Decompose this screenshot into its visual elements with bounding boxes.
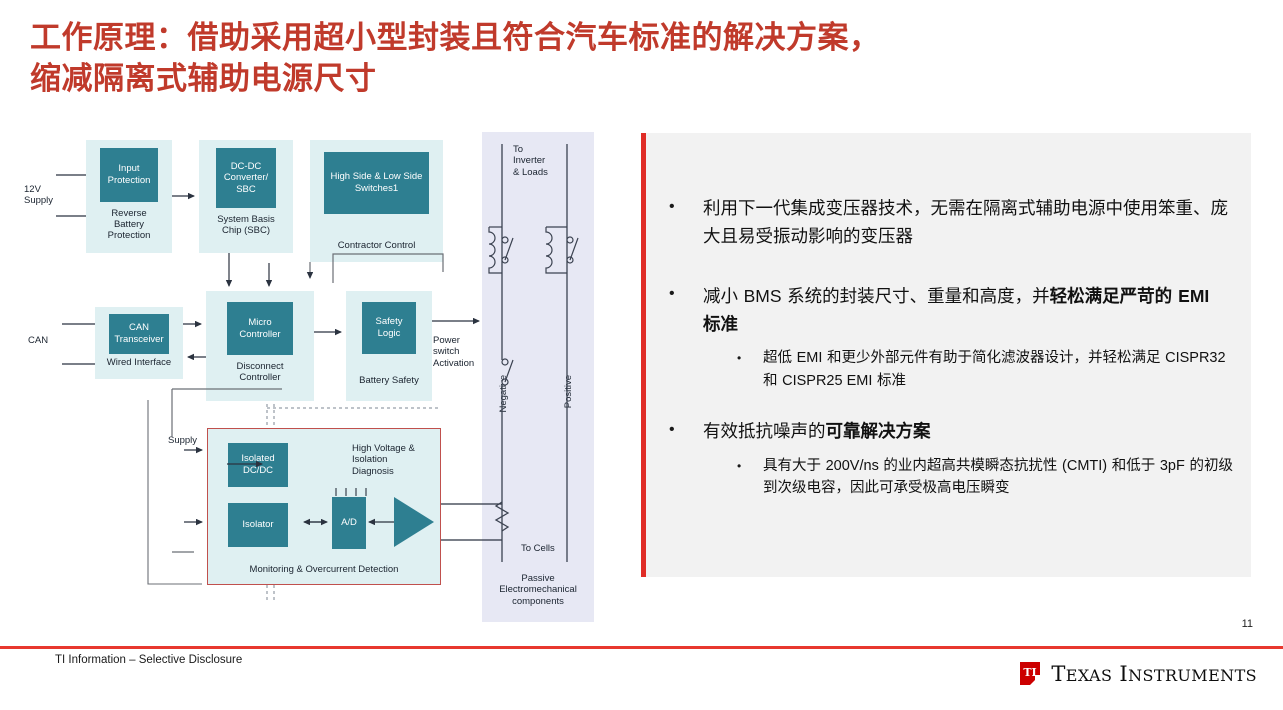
footer-note: TI Information – Selective Disclosure: [55, 654, 242, 666]
bullet-seg: 和低于: [1107, 458, 1160, 474]
bullet-seg: 3pF: [1160, 458, 1185, 474]
bullet-item: • 减小 BMS 系统的封装尺寸、重量和高度，并轻松满足严苛的 EMI 标准: [669, 282, 1251, 340]
sub-bullet-text: 具有大于 200V/ns 的业内超高共模瞬态抗扰性 (CMTI) 和低于 3pF…: [763, 455, 1251, 500]
page-title: 工作原理：借助采用超小型封装且符合汽车标准的解决方案， 缩减隔离式辅助电源尺寸: [30, 18, 1250, 100]
bullet-marker: •: [737, 455, 763, 478]
bullet-seg: 具有大于: [763, 458, 826, 474]
bullet-marker: •: [737, 347, 763, 370]
bullet-seg: 标准: [703, 315, 738, 335]
bullet-seg: 和更少外部元件有助于简化滤波器设计，并轻松满足: [822, 350, 1165, 366]
bullet-seg: 200V/ns: [826, 458, 879, 474]
page-number: 11: [1242, 618, 1253, 630]
sub-bullet-item: • 具有大于 200V/ns 的业内超高共模瞬态抗扰性 (CMTI) 和低于 3…: [737, 455, 1251, 500]
ti-wordmark: TEXAS INSTRUMENTS: [1051, 662, 1257, 686]
ti-logo: TI TEXAS INSTRUMENTS: [1018, 661, 1257, 687]
bullet-seg: 减小: [703, 287, 744, 307]
bullet-seg: 系统的封装尺寸、重量和高度，并: [782, 287, 1050, 307]
bullet-seg: BMS: [744, 286, 782, 306]
bullet-seg: (CMTI): [1062, 458, 1107, 474]
bullet-seg: 轻松满足严苛的: [1050, 287, 1179, 307]
bullet-text: 有效抵抗噪声的可靠解决方案: [703, 418, 1251, 446]
bullet-seg: CISPR25 EMI: [782, 373, 872, 389]
bullet-text: 利用下一代集成变压器技术，无需在隔离式辅助电源中使用笨重、庞大且易受振动影响的变…: [703, 195, 1251, 252]
bullet-marker: •: [669, 282, 703, 306]
sub-bullet-text: 超低 EMI 和更少外部元件有助于简化滤波器设计，并轻松满足 CISPR32 和…: [763, 347, 1251, 392]
bullet-seg: CISPR32: [1165, 350, 1225, 366]
bullet-marker: •: [669, 418, 703, 442]
bullet-item: • 利用下一代集成变压器技术，无需在隔离式辅助电源中使用笨重、庞大且易受振动影响…: [669, 195, 1251, 252]
bullet-seg: 有效抵抗噪声的: [703, 422, 826, 442]
bullet-seg: 超低: [763, 350, 797, 366]
bullet-item: • 有效抵抗噪声的可靠解决方案: [669, 418, 1251, 446]
bullet-seg: EMI: [797, 350, 823, 366]
bullet-seg: EMI: [1178, 286, 1209, 306]
bullet-seg: 的业内超高共模瞬态抗扰性: [879, 458, 1062, 474]
footer-divider: [0, 646, 1283, 649]
bullet-seg: 可靠解决方案: [826, 422, 931, 442]
sub-bullet-item: • 超低 EMI 和更少外部元件有助于简化滤波器设计，并轻松满足 CISPR32…: [737, 347, 1251, 392]
bullet-list: • 利用下一代集成变压器技术，无需在隔离式辅助电源中使用笨重、庞大且易受振动影响…: [641, 133, 1251, 500]
ti-logo-icon: TI: [1018, 661, 1042, 687]
bullet-text: 减小 BMS 系统的封装尺寸、重量和高度，并轻松满足严苛的 EMI 标准: [703, 282, 1251, 340]
bms-block-diagram: Input Protection Reverse Battery Protect…: [24, 132, 624, 622]
bullet-seg: 和: [763, 373, 782, 389]
diagram-wires: [24, 132, 624, 622]
svg-text:TI: TI: [1024, 666, 1037, 679]
bullet-marker: •: [669, 195, 703, 219]
bullet-seg: 标准: [872, 373, 906, 389]
